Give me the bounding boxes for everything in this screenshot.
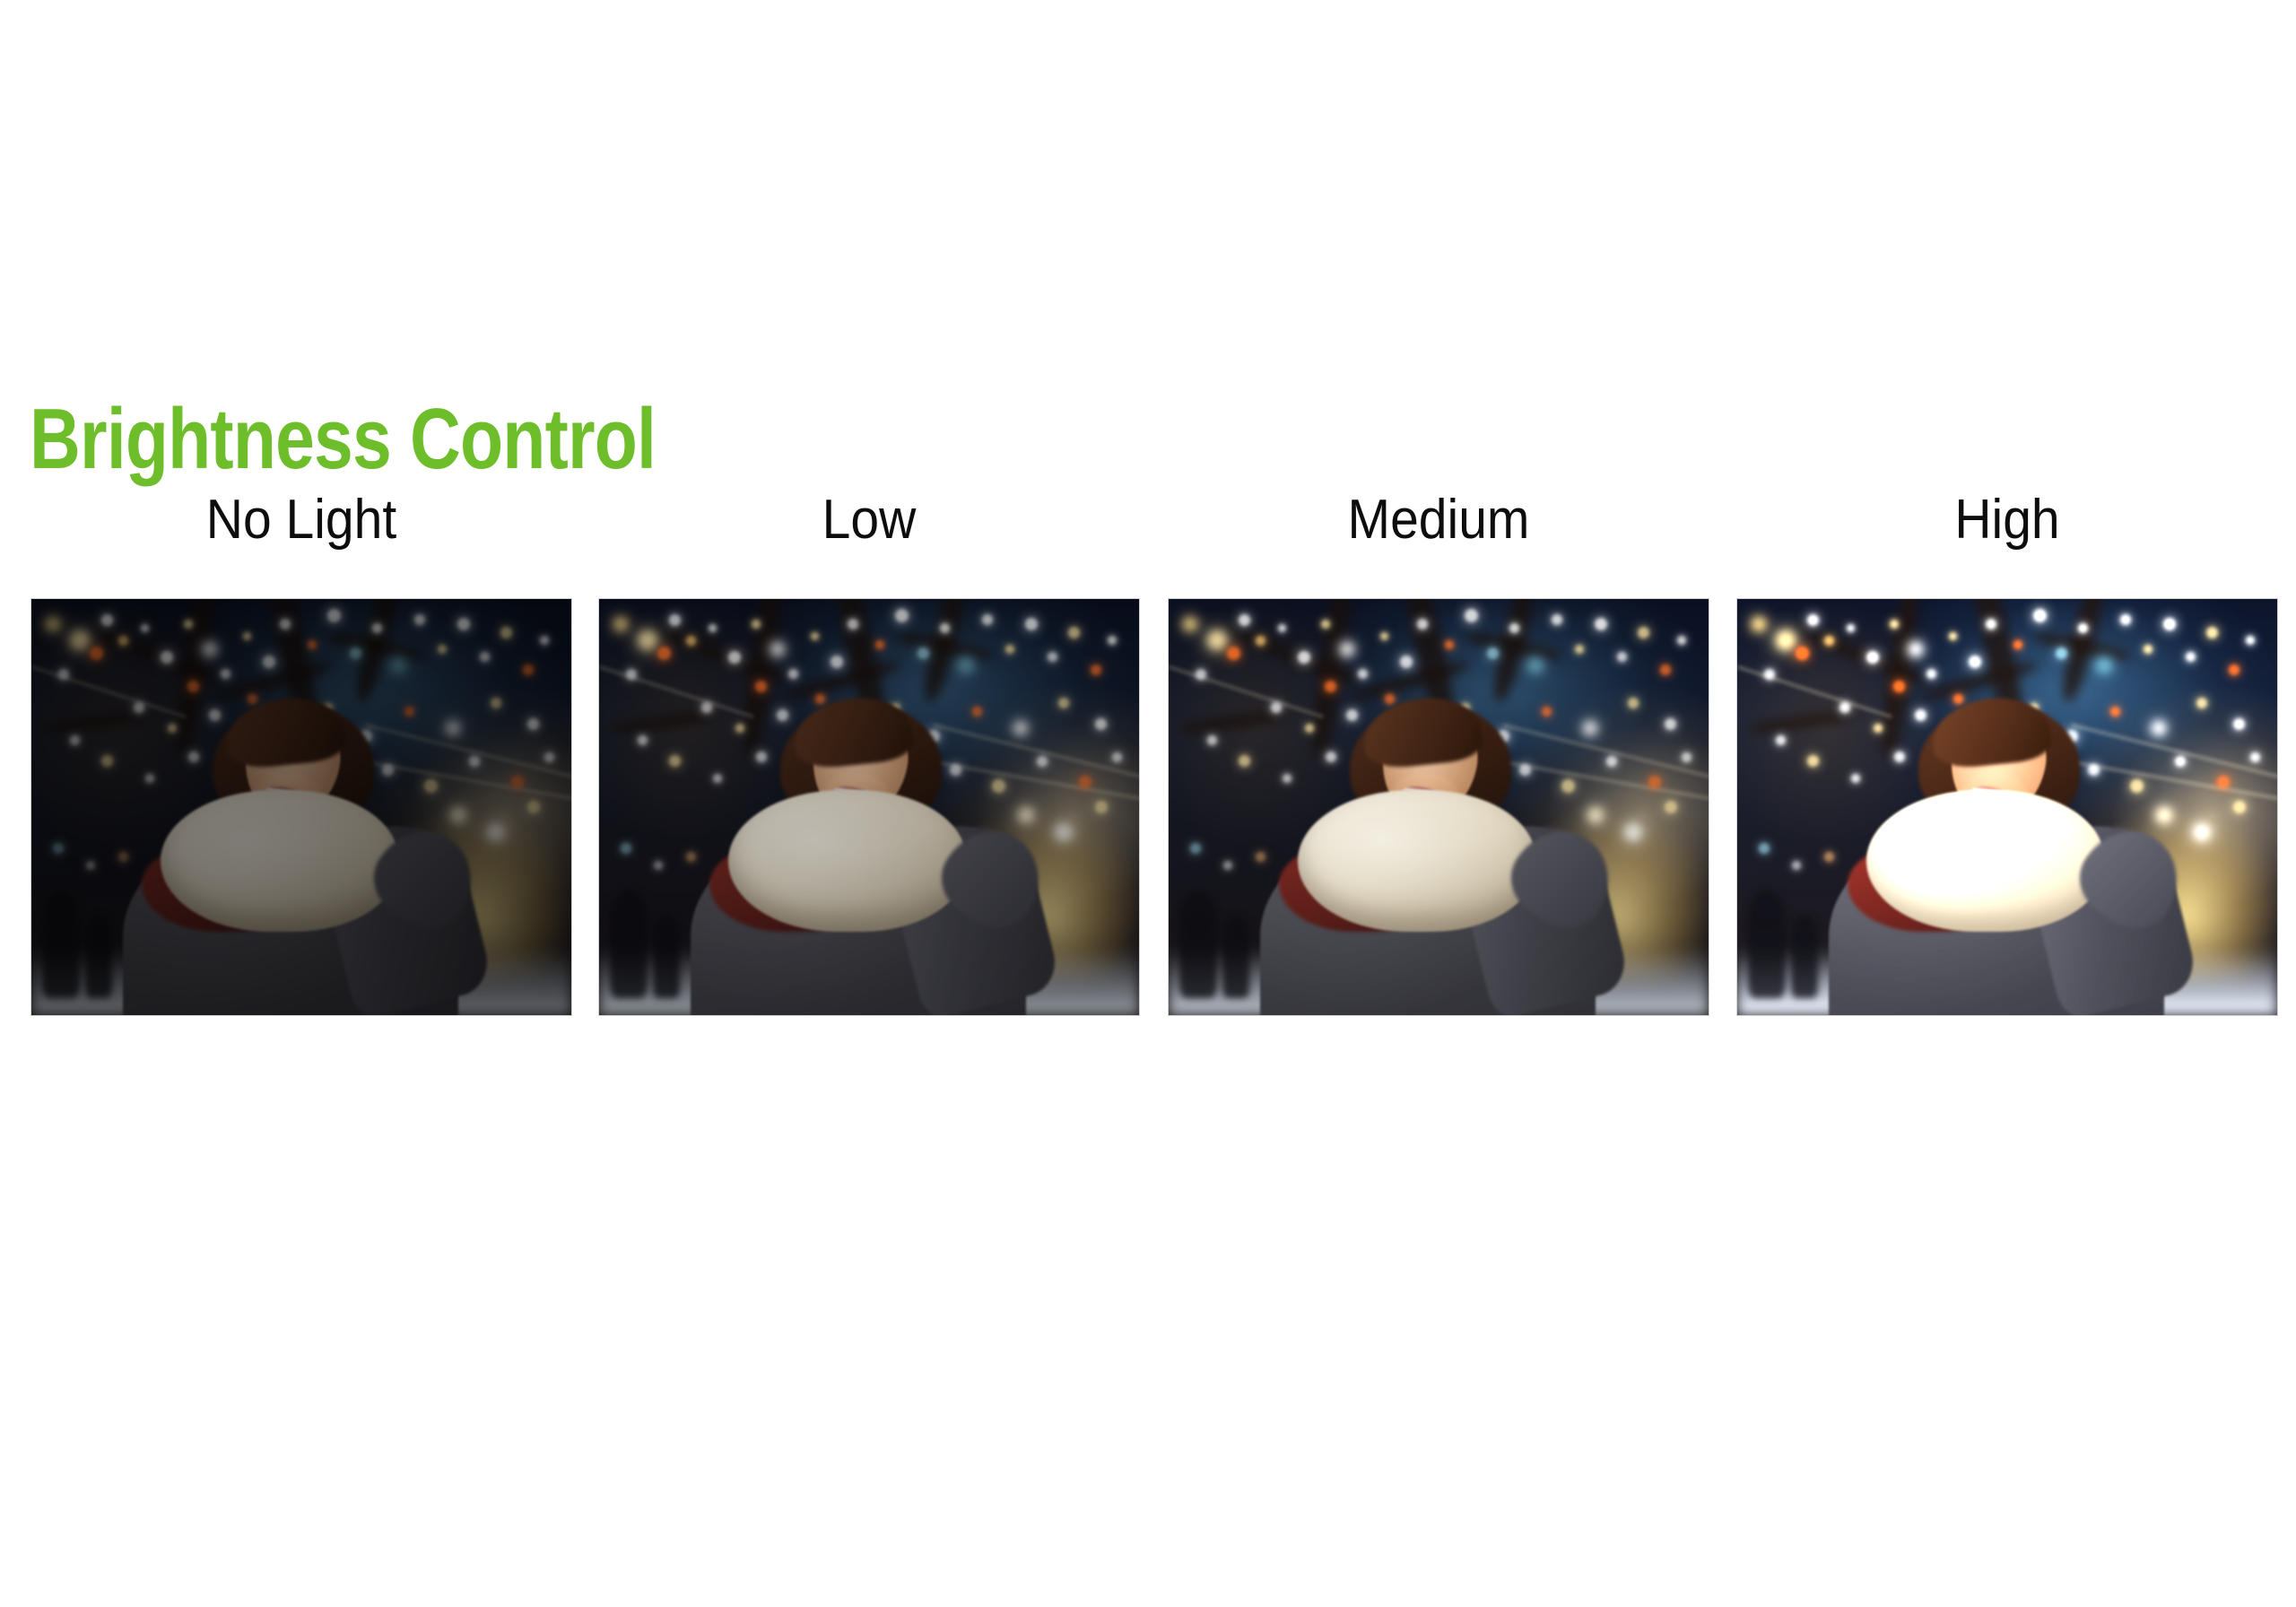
panel-label-no-light: No Light [54,489,549,552]
market-night-photo [31,599,571,1015]
woman-subject [31,599,571,1015]
panel-label-high: High [1760,489,2255,552]
page-title: Brightness Control [30,396,656,482]
panel-label-low: Low [622,489,1117,552]
woman-subject [1737,599,2277,1015]
brightness-panel-low[interactable] [599,599,1139,1015]
woman-subject [599,599,1139,1015]
brightness-panel-high[interactable] [1737,599,2277,1015]
brightness-panel-no-light[interactable] [31,599,571,1015]
cream-cowl-scarf [728,790,966,932]
market-night-photo [599,599,1139,1015]
panel-label-medium: Medium [1191,489,1686,552]
cream-cowl-scarf [1298,790,1535,932]
market-night-photo [1737,599,2277,1015]
slide-canvas: Brightness Control No Light Low Medium H… [0,0,2296,1607]
cream-cowl-scarf [161,790,398,932]
market-night-photo [1169,599,1709,1015]
cream-cowl-scarf [1866,790,2104,932]
brightness-comparison-row [0,599,2296,1017]
brightness-panel-medium[interactable] [1169,599,1709,1015]
panel-label-row: No Light Low Medium High [0,489,2296,552]
woman-subject [1169,599,1709,1015]
